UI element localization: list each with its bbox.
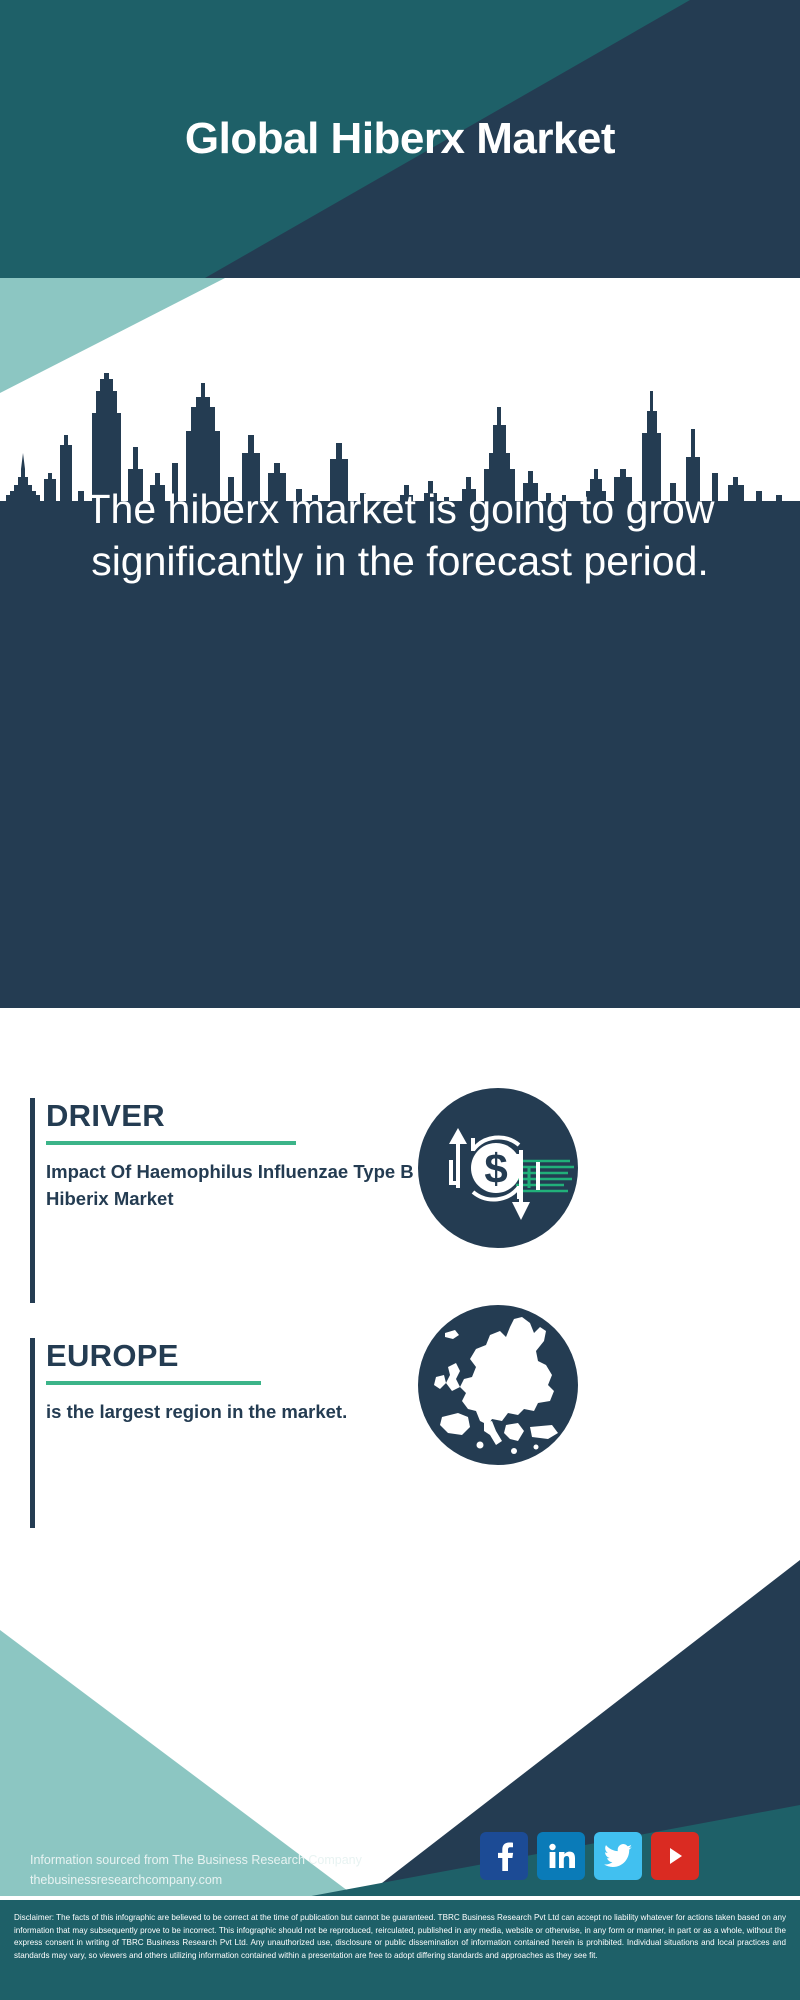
card-underline (46, 1381, 261, 1385)
social-links (480, 1832, 699, 1880)
card-left-rule (30, 1338, 35, 1528)
card-left-rule (30, 1098, 35, 1303)
source-line-2[interactable]: thebusinessresearchcompany.com (30, 1870, 362, 1890)
city-skyline-icon (0, 278, 800, 1008)
insight-cards: DRIVER Impact Of Haemophilus Influenzae … (0, 1008, 800, 1308)
facebook-icon[interactable] (480, 1832, 528, 1880)
source-line-1: Information sourced from The Business Re… (30, 1850, 362, 1870)
linkedin-icon[interactable] (537, 1832, 585, 1880)
svg-text:$: $ (484, 1145, 507, 1192)
page-title: Global Hiberx Market (0, 0, 800, 278)
dollar-growth-icon: $ (418, 1088, 578, 1248)
disclaimer-text: Disclaimer: The facts of this infographi… (0, 1900, 800, 2000)
card-underline (46, 1141, 296, 1145)
europe-map-icon (418, 1305, 578, 1465)
header-banner: Global Hiberx Market (0, 0, 800, 278)
hero-quote: The hiberx market is going to grow signi… (60, 483, 740, 587)
twitter-icon[interactable] (594, 1832, 642, 1880)
source-credit: Information sourced from The Business Re… (30, 1850, 362, 1890)
footer: Information sourced from The Business Re… (0, 1560, 800, 2000)
hero-section: The hiberx market is going to grow signi… (0, 278, 800, 1008)
youtube-icon[interactable] (651, 1832, 699, 1880)
infographic-page: Global Hiberx Market The hiberx market i… (0, 0, 800, 2000)
